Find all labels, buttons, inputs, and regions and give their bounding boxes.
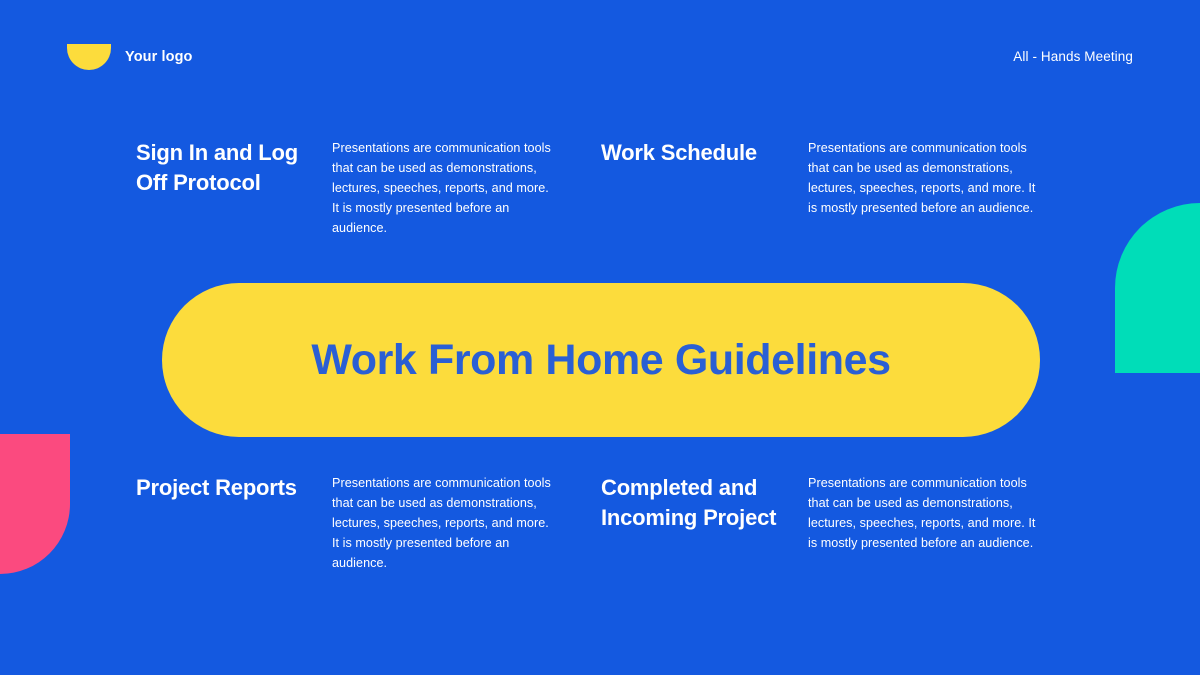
- content-block-sign-in-and-log-off-protocol: Sign In and Log Off Protocol Presentatio…: [136, 138, 601, 238]
- content-row-top: Sign In and Log Off Protocol Presentatio…: [0, 138, 1200, 238]
- slide-header: Your logo All - Hands Meeting: [0, 0, 1200, 110]
- block-body: Presentations are communication tools th…: [332, 138, 554, 238]
- content-block-work-schedule: Work Schedule Presentations are communic…: [601, 138, 1066, 238]
- slide-canvas: Your logo All - Hands Meeting Sign In an…: [0, 0, 1200, 675]
- meeting-title-label: All - Hands Meeting: [1013, 49, 1133, 64]
- block-heading: Sign In and Log Off Protocol: [136, 138, 332, 238]
- block-body: Presentations are communication tools th…: [332, 473, 554, 573]
- brand-name-label: Your logo: [125, 49, 192, 65]
- hero-title-pill[interactable]: Work From Home Guidelines: [162, 283, 1040, 437]
- block-heading: Completed and Incoming Project: [601, 473, 808, 573]
- block-body: Presentations are communication tools th…: [808, 473, 1046, 573]
- hero-title: Work From Home Guidelines: [311, 336, 890, 385]
- content-row-bottom: Project Reports Presentations are commun…: [0, 473, 1200, 573]
- block-heading: Work Schedule: [601, 138, 808, 238]
- half-circle-logo-icon: [67, 44, 111, 70]
- block-body: Presentations are communication tools th…: [808, 138, 1046, 238]
- block-heading: Project Reports: [136, 473, 332, 573]
- content-block-completed-and-incoming-project: Completed and Incoming Project Presentat…: [601, 473, 1066, 573]
- brand-logo[interactable]: Your logo: [67, 44, 192, 70]
- content-block-project-reports: Project Reports Presentations are commun…: [136, 473, 601, 573]
